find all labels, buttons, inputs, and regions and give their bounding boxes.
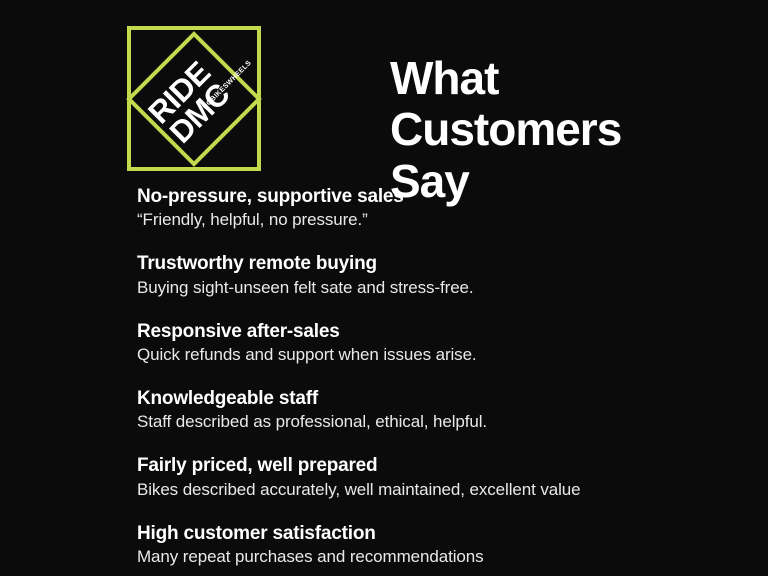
- slide-root: RIDE DMC DOBIKESWHEELS What Customers Sa…: [0, 0, 768, 576]
- testimonial-heading: Trustworthy remote buying: [137, 253, 748, 275]
- list-item: Responsive after-sales Quick refunds and…: [137, 321, 748, 367]
- page-title-line-1: What: [390, 53, 740, 105]
- testimonial-heading: Fairly priced, well prepared: [137, 455, 748, 477]
- testimonial-heading: Responsive after-sales: [137, 321, 748, 343]
- ride-dmc-logo: RIDE DMC DOBIKESWHEELS: [127, 26, 261, 171]
- testimonial-heading: High customer satisfaction: [137, 523, 748, 545]
- page-title: What Customers Say: [390, 53, 740, 208]
- testimonial-list: No-pressure, supportive sales “Friendly,…: [137, 186, 748, 569]
- testimonial-heading: Knowledgeable staff: [137, 388, 748, 410]
- list-item: Fairly priced, well prepared Bikes descr…: [137, 455, 748, 501]
- page-title-line-2: Customers: [390, 104, 740, 156]
- testimonial-description: Buying sight-unseen felt sate and stress…: [137, 277, 748, 300]
- testimonial-description: Staff described as professional, ethical…: [137, 411, 748, 434]
- list-item: Trustworthy remote buying Buying sight-u…: [137, 253, 748, 299]
- testimonial-heading: No-pressure, supportive sales: [137, 186, 748, 208]
- testimonial-description: “Friendly, helpful, no pressure.”: [137, 209, 748, 232]
- testimonial-description: Many repeat purchases and recommendation…: [137, 546, 748, 569]
- testimonial-description: Quick refunds and support when issues ar…: [137, 344, 748, 367]
- list-item: High customer satisfaction Many repeat p…: [137, 523, 748, 569]
- list-item: Knowledgeable staff Staff described as p…: [137, 388, 748, 434]
- list-item: No-pressure, supportive sales “Friendly,…: [137, 186, 748, 232]
- testimonial-description: Bikes described accurately, well maintai…: [137, 479, 748, 502]
